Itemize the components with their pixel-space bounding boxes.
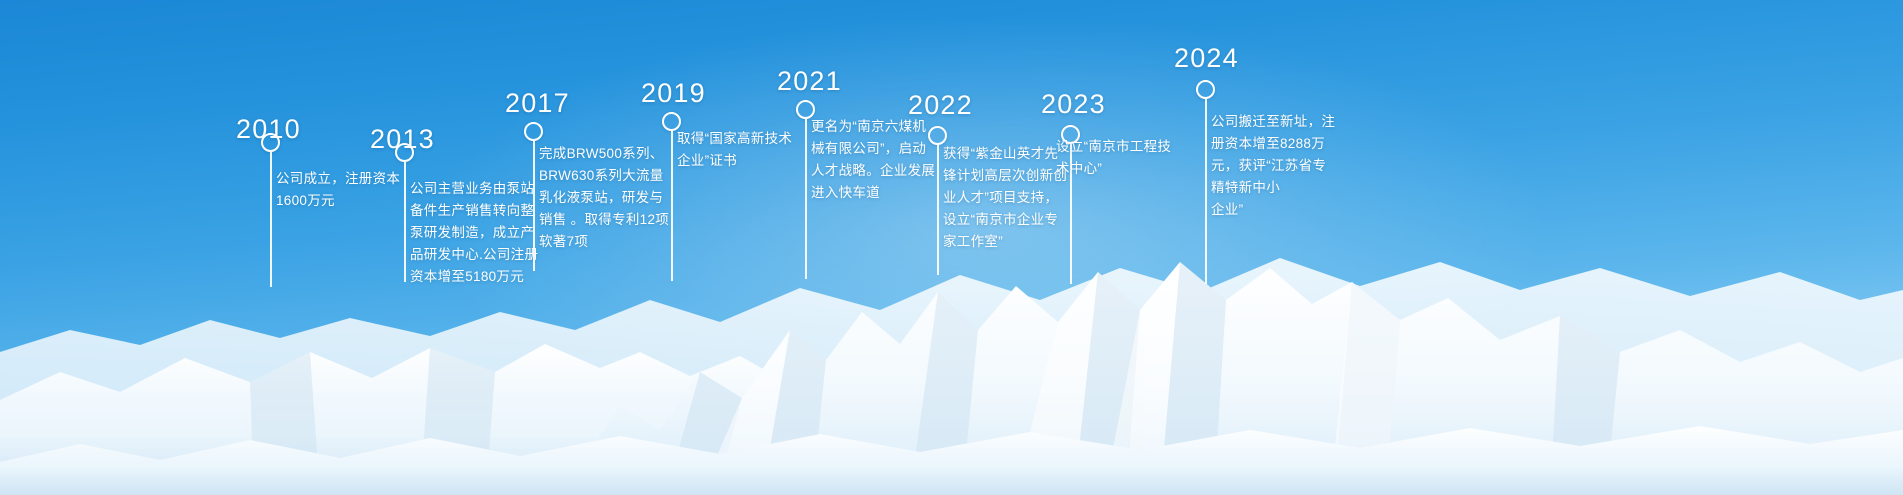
event-description-2013: 公司主营业务由泵站 备件生产销售转向整 泵研发制造，成立产 品研发中心.公司注册… (410, 178, 550, 288)
event-connector-2022 (937, 145, 939, 275)
event-description-2019: 取得“国家高新技术 企业”证书 (677, 128, 825, 172)
timeline-graphic: 2010 公司成立，注册资本 1600万元 2013 公司主营业务由泵站 备件生… (0, 0, 1903, 495)
event-year-2023: 2023 (1041, 91, 1106, 118)
event-year-2017: 2017 (505, 90, 570, 117)
event-connector-2019 (671, 131, 673, 281)
event-year-2022: 2022 (908, 92, 973, 119)
event-connector-2017 (533, 141, 535, 271)
event-marker-2010[interactable] (261, 133, 280, 152)
event-description-2017: 完成BRW500系列、 BRW630系列大流量 乳化液泵站，研发与 销售 。取得… (539, 143, 687, 253)
event-marker-2017[interactable] (524, 122, 543, 141)
event-description-2024: 公司搬迁至新址，注 册资本增至8288万 元，获评“江苏省专 精特新中小 企业” (1211, 111, 1363, 221)
event-connector-2024 (1205, 99, 1207, 284)
event-connector-2021 (805, 119, 807, 279)
event-connector-2010 (270, 152, 272, 287)
event-marker-2024[interactable] (1196, 80, 1215, 99)
event-connector-2013 (404, 162, 406, 282)
timeline-track: 2010 公司成立，注册资本 1600万元 2013 公司主营业务由泵站 备件生… (0, 0, 1903, 495)
event-description-2023: 设立“南京市工程技 术中心” (1056, 136, 1206, 180)
event-year-2019: 2019 (641, 80, 706, 107)
event-marker-2013[interactable] (395, 143, 414, 162)
event-year-2021: 2021 (777, 68, 842, 95)
event-year-2024: 2024 (1174, 45, 1239, 72)
